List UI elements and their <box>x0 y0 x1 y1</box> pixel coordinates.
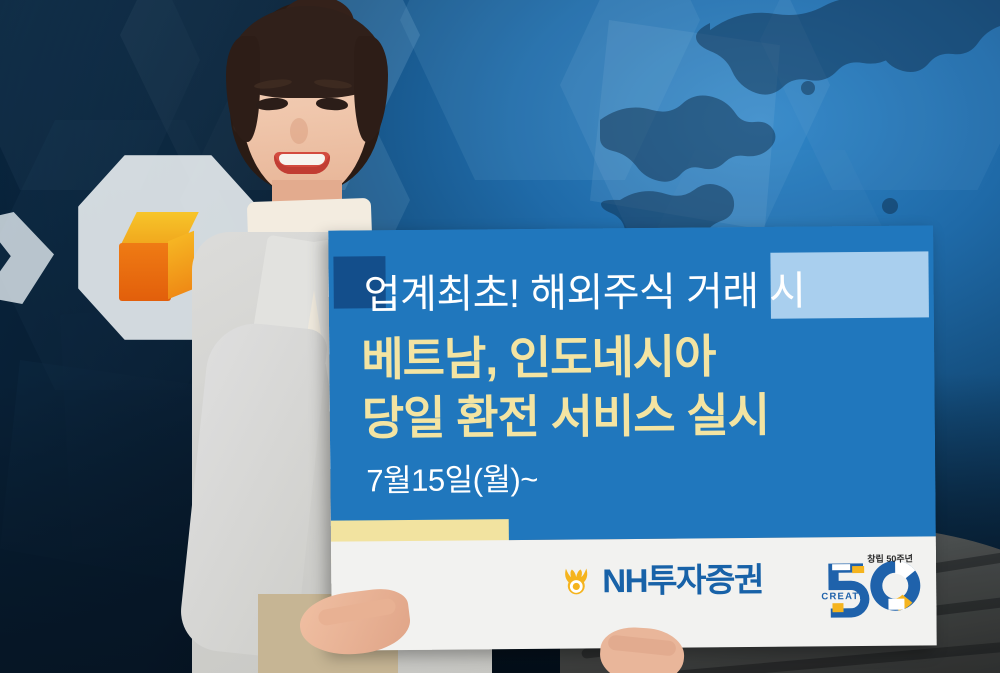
anniversary-50-logo: CREATE 창립 50주년 <box>818 550 927 625</box>
anniversary-50-mark-icon: CREATE 창립 50주년 <box>818 550 927 625</box>
anniversary-label: 창립 50주년 <box>867 553 913 564</box>
banner-image: 업계최초! 해외주식 거래 시 베트남, 인도네시아 당일 환전 서비스 실시 … <box>0 0 1000 673</box>
date-note: 7월15일(월)~ <box>366 454 538 500</box>
nh-bull-mark-icon <box>559 563 593 597</box>
promo-card: 업계최초! 해외주식 거래 시 베트남, 인도네시아 당일 환전 서비스 실시 … <box>328 225 937 650</box>
promo-card-blue-panel: 업계최초! 해외주식 거래 시 베트남, 인도네시아 당일 환전 서비스 실시 … <box>328 225 936 541</box>
headline-top: 업계최초! 해외주식 거래 시 <box>364 268 806 318</box>
nh-brand-name: NH투자증권 <box>602 562 763 596</box>
orange-cube-face-icon <box>119 243 171 301</box>
nh-brand-logo: NH투자증권 <box>559 562 763 598</box>
headline-main: 베트남, 인도네시아 당일 환전 서비스 실시 <box>361 327 769 448</box>
anniversary-create-text: CREATE <box>821 591 867 602</box>
